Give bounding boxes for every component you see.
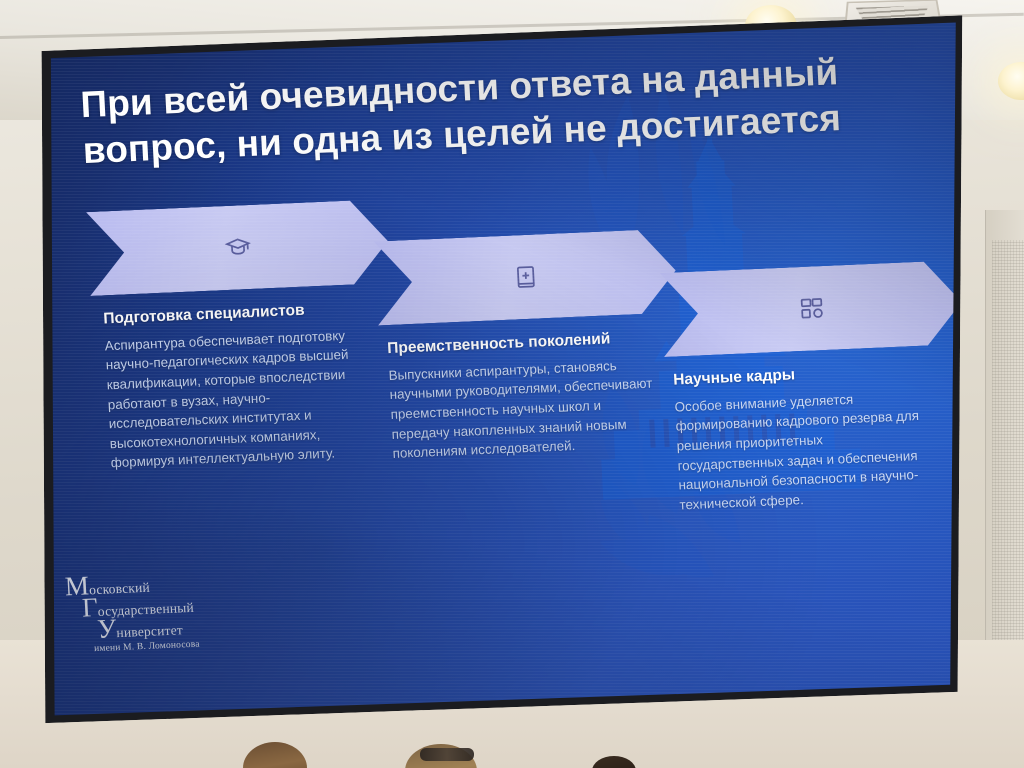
eyeglasses-icon: [420, 748, 474, 761]
wall-right-mesh: [992, 240, 1024, 660]
room-scene: При всей очевидности ответа на данный во…: [0, 0, 1024, 768]
layout-blocks-icon: [798, 295, 825, 322]
book-plus-icon: [512, 263, 539, 290]
graduation-cap-icon: [224, 234, 251, 261]
msu-logo: М осковский Г осударственный У ниверсите…: [64, 566, 278, 655]
step-body-1: Аспирантура обеспечивает подготовку науч…: [104, 325, 379, 473]
step-heading-1: Подготовка специалистов: [103, 298, 372, 329]
step-heading-2: Преемственность поколений: [387, 327, 656, 358]
step-body-3: Особое внимание уделяется формированию к…: [674, 386, 932, 514]
presentation-slide: При всей очевидности ответа на данный во…: [36, 14, 966, 726]
process-chevron-3[interactable]: [660, 260, 964, 357]
step-body-2: Выпускники аспирантуры, становясь научны…: [388, 354, 661, 463]
step-block-3: Научные кадры Особое внимание уделяется …: [673, 360, 932, 515]
logo-initial-u: У: [97, 617, 117, 640]
step-block-1: Подготовка специалистов Аспирантура обес…: [103, 298, 379, 473]
logo-word-universitet: ниверситет: [116, 622, 183, 641]
slide-title: При всей очевидности ответа на данный во…: [79, 49, 843, 175]
process-chevron-2[interactable]: [374, 228, 678, 325]
step-block-2: Преемственность поколений Выпускники асп…: [387, 327, 661, 463]
logo-word-moskovskiy: осковский: [89, 580, 151, 599]
process-chevron-1[interactable]: [86, 199, 390, 296]
projection-screen: При всей очевидности ответа на данный во…: [36, 14, 966, 726]
step-heading-3: Научные кадры: [673, 360, 926, 391]
